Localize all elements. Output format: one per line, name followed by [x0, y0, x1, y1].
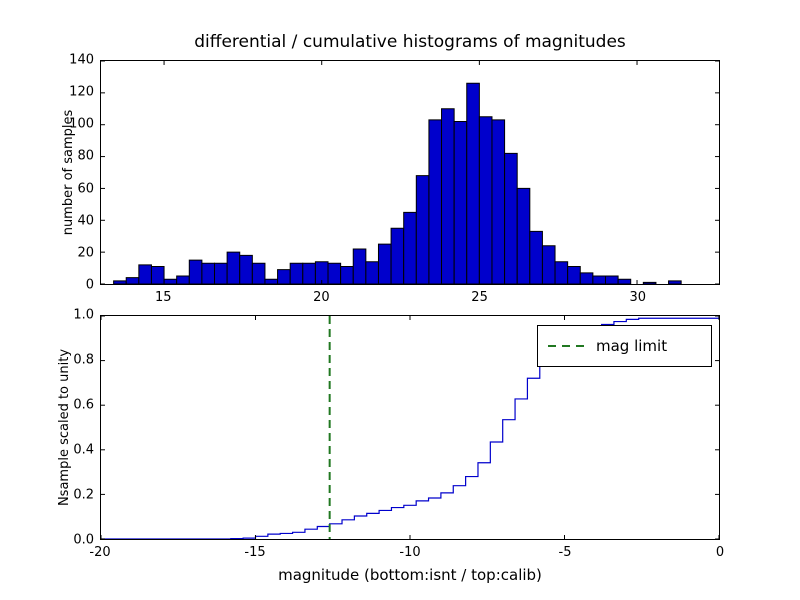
top-y-tick-label: 120	[69, 85, 94, 100]
figure: differential / cumulative histograms of …	[0, 0, 800, 600]
bottom-y-tick-label: 1.0	[73, 308, 94, 323]
top-y-tick-label: 0	[86, 278, 94, 293]
top-y-tick-label: 80	[77, 149, 94, 164]
bottom-y-axis-label: Nsample scaled to unity	[57, 315, 72, 540]
top-y-tick-label: 20	[77, 245, 94, 260]
bottom-x-tick-label: -10	[399, 545, 420, 560]
figure-x-axis-label: magnitude (bottom:isnt / top:calib)	[100, 566, 720, 584]
bottom-y-tick-label: 0.4	[73, 443, 94, 458]
top-x-tick-label: 25	[471, 290, 488, 305]
differential-histogram-axes	[100, 60, 720, 285]
bottom-y-tick-label: 0.2	[73, 488, 94, 503]
legend-label-mag-limit: mag limit	[596, 337, 667, 355]
bottom-x-tick-label: -20	[89, 545, 110, 560]
bottom-x-tick-label: 0	[716, 545, 724, 560]
top-x-tick-label: 15	[155, 290, 172, 305]
top-y-tick-label: 40	[77, 213, 94, 228]
bottom-x-tick-label: -5	[559, 545, 572, 560]
top-y-tick-label: 60	[77, 181, 94, 196]
bottom-x-tick-label: -15	[244, 545, 265, 560]
mag-limit-line-icon	[548, 345, 586, 347]
figure-title: differential / cumulative histograms of …	[100, 32, 720, 52]
top-x-tick-label: 20	[313, 290, 330, 305]
top-y-tick-label: 100	[69, 117, 94, 132]
top-y-tick-label: 140	[69, 53, 94, 68]
differential-histogram-plot	[101, 61, 719, 284]
bottom-y-tick-label: 0.6	[73, 398, 94, 413]
bottom-y-tick-label: 0.8	[73, 353, 94, 368]
legend: mag limit	[537, 325, 712, 367]
top-x-tick-label: 30	[629, 290, 646, 305]
